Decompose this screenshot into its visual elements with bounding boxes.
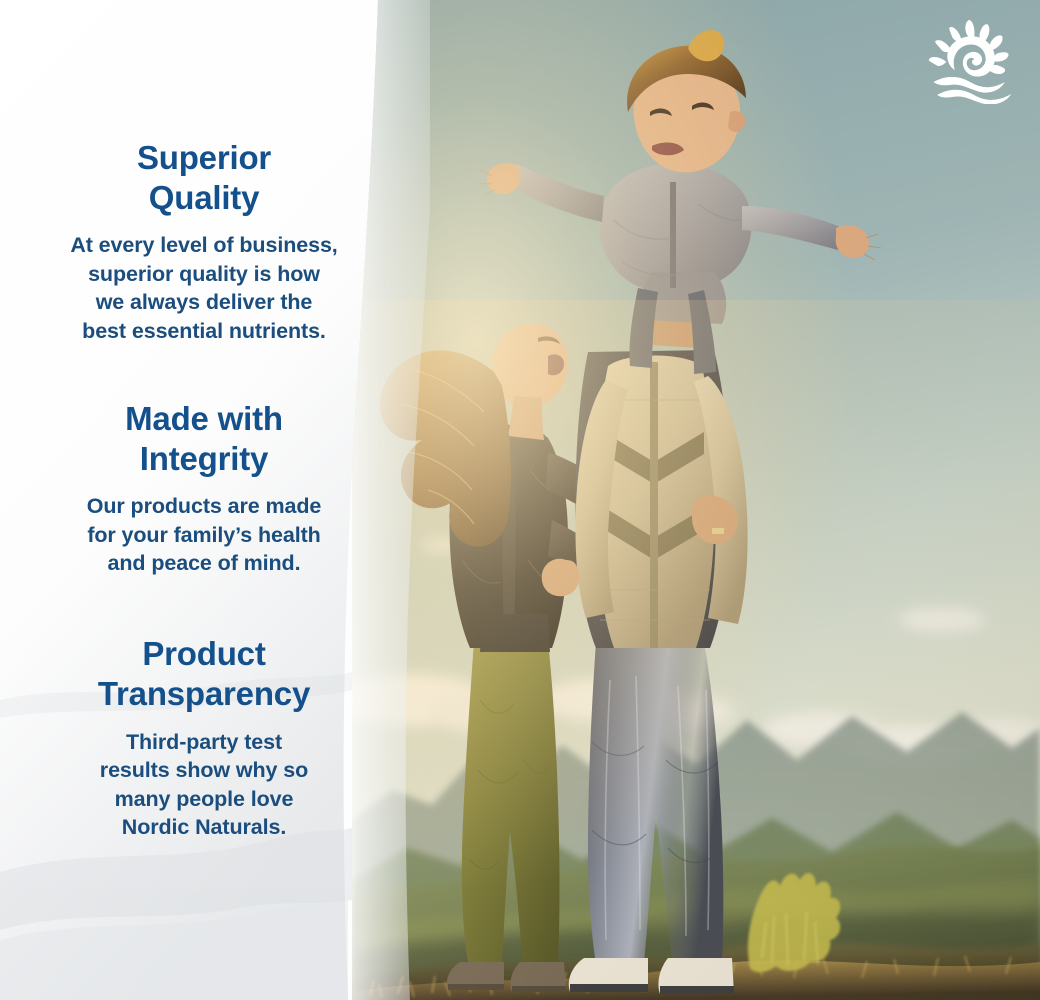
promo-banner: Superior Quality At every level of busin… <box>0 0 1040 1000</box>
value-body-superior-quality: At every level of business, superior qua… <box>54 231 354 345</box>
value-title-superior-quality: Superior Quality <box>64 138 344 218</box>
sun-wave-logo-icon <box>926 18 1018 104</box>
lifestyle-photo <box>352 0 1040 1000</box>
value-block-superior-quality: Superior Quality At every level of busin… <box>18 138 390 345</box>
sun-spiral <box>947 36 995 76</box>
value-props-column: Superior Quality At every level of busin… <box>0 0 408 1000</box>
warm-light-wash <box>352 300 1040 1000</box>
value-title-product-transparency: Product Transparency <box>64 634 344 714</box>
wave-upper <box>934 77 1005 93</box>
wave-lower <box>937 90 1011 104</box>
value-body-made-with-integrity: Our products are made for your family’s … <box>60 492 348 578</box>
value-title-made-with-integrity: Made with Integrity <box>64 399 344 479</box>
sun-ray-left <box>929 57 947 66</box>
value-block-made-with-integrity: Made with Integrity Our products are mad… <box>18 399 390 578</box>
value-body-product-transparency: Third-party test results show why so man… <box>73 728 335 842</box>
value-block-product-transparency: Product Transparency Third-party test re… <box>18 634 390 842</box>
